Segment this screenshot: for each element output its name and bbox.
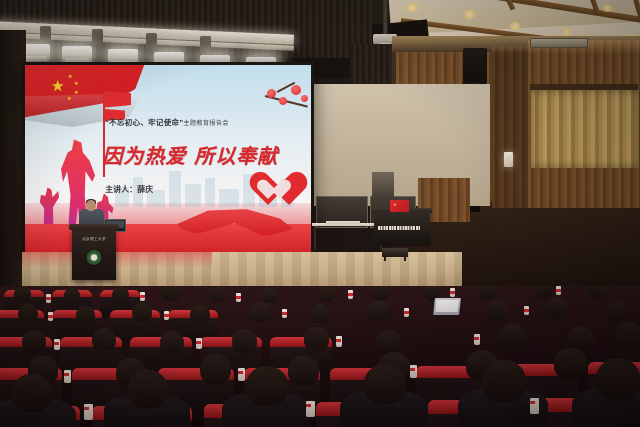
screen-main-slogan: 因为热爱 所以奉献 [102, 140, 278, 169]
audience-head [616, 322, 640, 347]
led-screen[interactable]: ★ ★ ★ ★ ★ [22, 62, 314, 260]
water-bottle [474, 334, 480, 345]
water-bottle [450, 288, 455, 297]
water-bottle [64, 370, 71, 383]
stage-light [92, 29, 103, 45]
line-array-speaker [463, 48, 487, 84]
water-bottle [410, 365, 417, 378]
stage-light [200, 36, 211, 52]
water-bottle [84, 404, 93, 420]
audience-head [554, 348, 587, 380]
water-bottle [348, 290, 353, 299]
audience-head [64, 288, 80, 303]
audience-head [128, 370, 168, 408]
flag-star-small: ★ [74, 91, 78, 96]
audience-head [372, 286, 390, 300]
heart-inner [256, 180, 280, 204]
audience-head [210, 286, 227, 302]
screen-title: “不忘初心、牢记使命”主题教育报告会 [105, 117, 229, 128]
air-vent [530, 38, 588, 48]
piano-keys [378, 226, 420, 230]
audience-head [534, 286, 553, 298]
water-bottle [46, 294, 51, 303]
stage-table [326, 221, 360, 224]
audience-head [482, 360, 526, 402]
water-bottle [238, 368, 245, 381]
audience-head [318, 286, 335, 302]
stage-red-glow [22, 252, 212, 268]
audience-head [596, 358, 640, 400]
stage-light [146, 33, 157, 49]
led-screen-content: ★ ★ ★ ★ ★ [25, 65, 311, 257]
water-bottle [556, 286, 561, 295]
wall-wainscot [492, 208, 640, 296]
audience-head [310, 304, 330, 323]
audience-head [12, 374, 52, 412]
audience-head [22, 330, 46, 353]
presenter-head [86, 200, 96, 211]
audience-head [190, 305, 210, 324]
desk-flag-icon: ★ [390, 200, 409, 212]
water-bottle [236, 293, 241, 302]
piano-bench [382, 248, 408, 257]
laptop-screen-text: ●●● [438, 303, 444, 307]
podium: 北京理工大学 [72, 228, 116, 280]
audience-head [262, 288, 278, 303]
downlight-icon [462, 10, 477, 19]
downlight-icon [560, 28, 573, 36]
wall-grille [372, 172, 394, 200]
audience-head [368, 301, 389, 321]
downlight-icon [601, 4, 614, 12]
water-bottle [306, 401, 315, 417]
water-bottle [530, 398, 539, 414]
water-bottle [282, 309, 287, 318]
audience-head [18, 304, 38, 323]
audience-laptop[interactable]: ●●● [433, 298, 461, 315]
water-bottle [164, 311, 169, 320]
audience-head [588, 286, 606, 299]
audience-head [486, 300, 508, 321]
downlight-icon [508, 22, 522, 30]
water-bottle [48, 312, 53, 321]
audience-head [132, 303, 152, 322]
audience-head [478, 286, 497, 300]
audience-head [304, 327, 329, 351]
window-curtain [531, 90, 639, 168]
audience-head [606, 302, 627, 322]
audience-area: ●●● [0, 286, 640, 427]
audience-head [92, 328, 116, 351]
audience-head [76, 306, 95, 324]
water-bottle [404, 308, 409, 317]
podium-label: 北京理工大学 [82, 237, 106, 242]
audience-head [200, 354, 231, 384]
audience-head [246, 366, 288, 406]
university-crest-icon [87, 250, 102, 265]
audience-head [14, 286, 31, 302]
projector-mount [383, 0, 388, 36]
wood-slat-panel [492, 46, 528, 210]
water-bottle [140, 292, 145, 301]
wall-sconce [504, 152, 513, 167]
audience-head [232, 329, 257, 353]
audience-head [376, 330, 401, 354]
audience-head [288, 356, 319, 386]
water-bottle [196, 338, 202, 349]
downlight-icon [404, 3, 420, 12]
flag-star-large: ★ [51, 79, 64, 94]
audience-head [112, 287, 129, 303]
audience-head [160, 331, 184, 354]
audience-head [250, 302, 271, 322]
flag-star-small: ★ [68, 75, 72, 80]
stage-light [40, 26, 51, 42]
audience-head [546, 298, 568, 319]
podium-top [69, 224, 119, 230]
water-bottle [524, 306, 529, 315]
auditorium-photo: ★ ★ ★ ★ ★ [0, 0, 640, 427]
water-bottle [54, 339, 60, 350]
stage-light [62, 46, 92, 63]
water-bottle [336, 336, 342, 347]
flag-star-small: ★ [67, 97, 71, 102]
flag-star-small: ★ [74, 82, 78, 87]
screen-speaker-name: 主讲人：薛庆 [105, 184, 153, 195]
audience-head [364, 364, 406, 404]
audience-head [162, 286, 180, 301]
audience-head [500, 324, 526, 349]
